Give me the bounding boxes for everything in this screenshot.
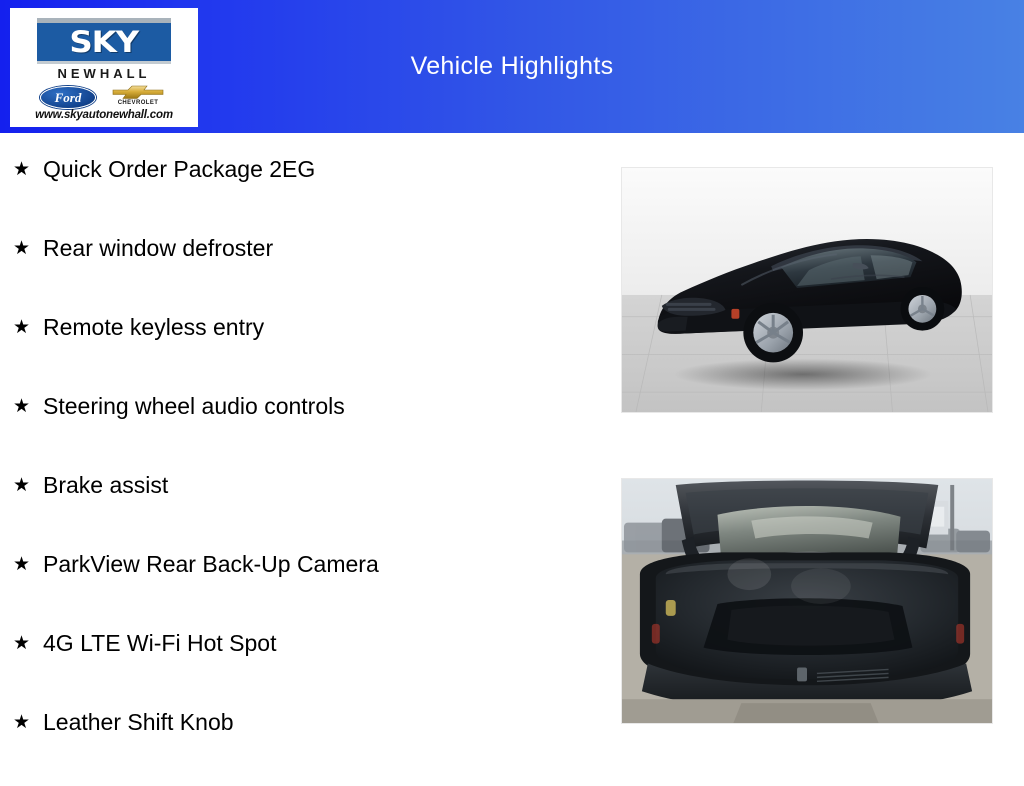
dealer-location-label: NEWHALL xyxy=(10,66,198,81)
dealer-website-url: www.skyautonewhall.com xyxy=(10,109,198,121)
feature-label: Rear window defroster xyxy=(43,233,273,263)
star-bullet-icon: ★ xyxy=(13,154,43,184)
star-bullet-icon: ★ xyxy=(13,312,43,342)
franchise-brand-row: Ford CHEVROLET xyxy=(10,84,198,110)
feature-label: Remote keyless entry xyxy=(43,312,264,342)
list-item: ★ Leather Shift Knob xyxy=(0,707,600,786)
list-item: ★ Rear window defroster xyxy=(0,233,600,312)
ford-logo-label: Ford xyxy=(55,91,82,104)
star-bullet-icon: ★ xyxy=(13,391,43,421)
list-item: ★ Quick Order Package 2EG xyxy=(0,154,600,233)
chevrolet-bowtie-shape xyxy=(112,85,164,99)
vehicle-exterior-photo[interactable] xyxy=(621,167,993,413)
vehicle-exterior-image xyxy=(622,168,992,412)
star-bullet-icon: ★ xyxy=(13,549,43,579)
dealer-logo-inner: SKY NEWHALL Ford CHEVROLE xyxy=(10,8,198,127)
list-item: ★ Steering wheel audio controls xyxy=(0,391,600,470)
chevrolet-logo-label: CHEVROLET xyxy=(108,100,168,106)
chevrolet-logo-icon: CHEVROLET xyxy=(108,84,168,110)
vehicle-highlights-list: ★ Quick Order Package 2EG ★ Rear window … xyxy=(0,133,600,768)
star-bullet-icon: ★ xyxy=(13,628,43,658)
feature-label: Leather Shift Knob xyxy=(43,707,234,737)
star-bullet-icon: ★ xyxy=(13,470,43,500)
dealer-brand-name: SKY xyxy=(70,28,139,57)
list-item: ★ Brake assist xyxy=(0,470,600,549)
ford-logo-icon: Ford xyxy=(40,86,96,109)
sky-badge: SKY xyxy=(37,18,171,64)
list-item: ★ 4G LTE Wi-Fi Hot Spot xyxy=(0,628,600,707)
feature-label: Steering wheel audio controls xyxy=(43,391,345,421)
star-bullet-icon: ★ xyxy=(13,233,43,263)
star-bullet-icon: ★ xyxy=(13,707,43,737)
dealer-logo[interactable]: SKY NEWHALL Ford CHEVROLE xyxy=(10,8,198,127)
vehicle-trunk-image xyxy=(622,479,992,723)
feature-label: ParkView Rear Back-Up Camera xyxy=(43,549,379,579)
feature-label: Quick Order Package 2EG xyxy=(43,154,315,184)
feature-label: Brake assist xyxy=(43,470,168,500)
vehicle-trunk-photo[interactable] xyxy=(621,478,993,724)
list-item: ★ ParkView Rear Back-Up Camera xyxy=(0,549,600,628)
list-item: ★ Remote keyless entry xyxy=(0,312,600,391)
feature-label: 4G LTE Wi-Fi Hot Spot xyxy=(43,628,276,658)
